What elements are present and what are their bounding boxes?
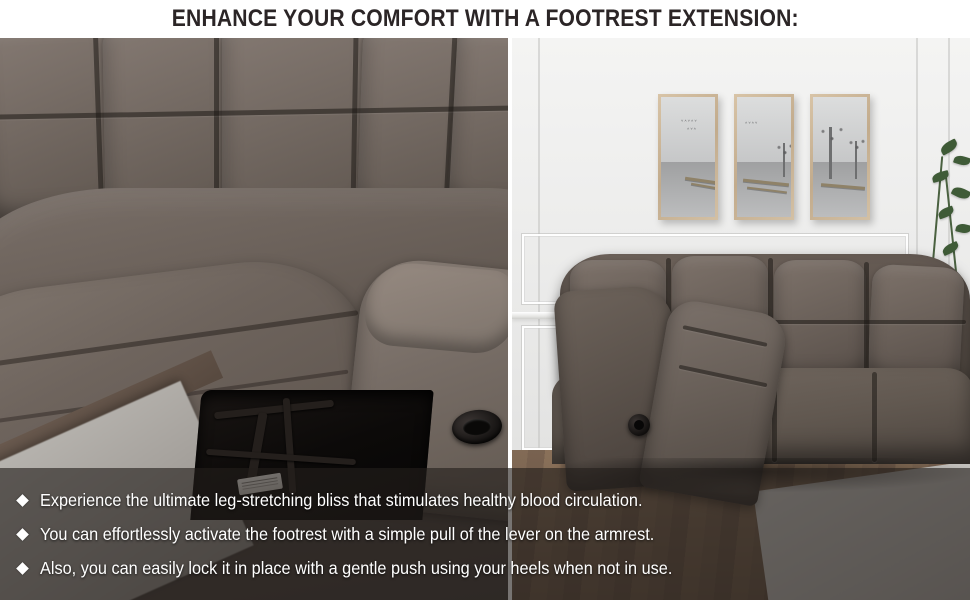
bullet-text: Experience the ultimate leg-stretching b… (40, 490, 642, 510)
diamond-bullet-icon (16, 562, 29, 575)
seat-seam (872, 372, 877, 462)
list-item: Also, you can easily lock it in place wi… (0, 551, 970, 585)
framed-art: ˅˄˅˄˅ ˄˅˄ (658, 94, 718, 220)
bullet-text: Also, you can easily lock it in place wi… (40, 558, 672, 578)
bullet-text: You can effortlessly activate the footre… (40, 524, 654, 544)
page-title: ENHANCE YOUR COMFORT WITH A FOOTREST EXT… (171, 7, 798, 31)
art-image (813, 97, 867, 217)
product-feature-banner: ENHANCE YOUR COMFORT WITH A FOOTREST EXT… (0, 0, 970, 600)
art-water (661, 162, 715, 217)
tree-canopy (775, 137, 791, 163)
list-item: You can effortlessly activate the footre… (0, 517, 970, 551)
feature-bullet-list: Experience the ultimate leg-stretching b… (0, 468, 970, 600)
recliner-lever[interactable] (628, 414, 650, 436)
diamond-bullet-icon (16, 494, 29, 507)
armrest-top (363, 260, 508, 357)
framed-art: ˄˅˄˅ (734, 94, 794, 220)
cushion-seam (214, 38, 219, 212)
birds-icon: ˄˅˄˅ (745, 121, 758, 125)
art-image: ˄˅˄˅ (737, 97, 791, 217)
art-image: ˅˄˅˄˅ ˄˅˄ (661, 97, 715, 217)
tree-canopy (847, 133, 867, 157)
birds-icon: ˅˄˅˄˅ (681, 119, 698, 123)
list-item: Experience the ultimate leg-stretching b… (0, 483, 970, 517)
framed-art (810, 94, 870, 220)
birds-icon: ˄˅˄ (687, 127, 697, 131)
tree-canopy (817, 117, 847, 153)
header-band: ENHANCE YOUR COMFORT WITH A FOOTREST EXT… (0, 0, 970, 38)
diamond-bullet-icon (16, 528, 29, 541)
